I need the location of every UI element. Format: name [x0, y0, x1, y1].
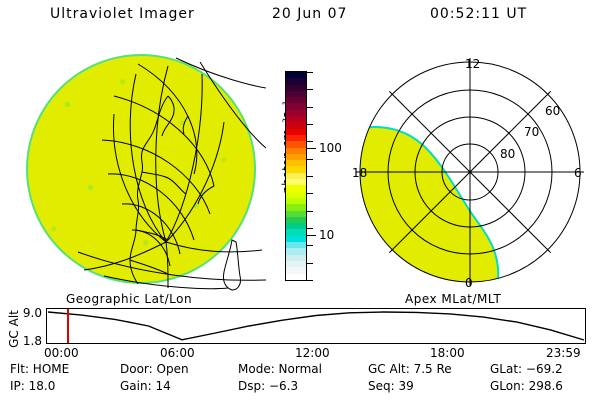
- orbit-x-tick-labels: 00:0006:0012:0018:0023:59: [0, 346, 600, 362]
- colorbar-ticks: 10010: [307, 71, 352, 281]
- colorbar-minor-tick: [307, 193, 313, 194]
- status-field: GC Alt: 7.5 Re: [368, 362, 452, 376]
- status-field: IP: 18.0: [10, 379, 55, 393]
- colorbar-band: [286, 274, 306, 280]
- apex-polar-panel[interactable]: 12 18 6 0 60 70 80: [348, 44, 592, 296]
- globe-overlay-graticule: [18, 44, 266, 296]
- colorbar-tick-label: 10: [319, 228, 334, 242]
- instrument-status-block: Flt: HOMEDoor: OpenMode: NormalGC Alt: 7…: [0, 362, 600, 398]
- geographic-globe-panel[interactable]: [18, 44, 266, 296]
- colorbar-minor-tick: [307, 211, 313, 212]
- orbit-y-tick-labels: 9.01.8: [0, 308, 42, 344]
- orbit-x-tick: 12:00: [295, 346, 330, 360]
- polar-subtitle: Apex MLat/MLT: [405, 292, 501, 306]
- colorbar-major-tick: [307, 148, 316, 149]
- polar-mlat-label-80: 80: [500, 147, 515, 161]
- status-field: Mode: Normal: [238, 362, 322, 376]
- orbit-y-tick: 9.0: [23, 306, 42, 320]
- status-row: IP: 18.0Gain: 14Dsp: −6.3Seq: 39GLon: 29…: [0, 379, 600, 396]
- polar-mlat-label-60: 60: [545, 104, 560, 118]
- colorbar-minor-tick: [307, 107, 313, 108]
- colorbar-minor-tick: [307, 228, 313, 229]
- header-bar: Ultraviolet Imager 20 Jun 07 00:52:11 UT: [0, 6, 600, 28]
- globe-subtitle: Geographic Lat/Lon: [66, 292, 192, 306]
- colorbar-tick-label: 100: [319, 141, 342, 155]
- orbit-x-tick: 00:00: [44, 346, 79, 360]
- polar-mlt-label-0: 0: [465, 276, 473, 290]
- orbit-altitude-trace: [47, 309, 585, 343]
- status-field: Gain: 14: [120, 379, 171, 393]
- observation-time: 00:52:11 UT: [430, 6, 527, 22]
- page-title: Ultraviolet Imager: [50, 6, 195, 22]
- colorbar-minor-tick: [307, 141, 313, 142]
- status-field: Flt: HOME: [10, 362, 69, 376]
- colorbar-minor-tick: [307, 124, 313, 125]
- status-field: Seq: 39: [368, 379, 414, 393]
- status-field: GLon: 298.6: [490, 379, 563, 393]
- status-field: GLat: −69.2: [490, 362, 563, 376]
- colorbar-panel: photon cm⁻²s⁻¹ 10010: [266, 44, 352, 296]
- observation-date: 20 Jun 07: [272, 6, 347, 22]
- polar-mlat-label-70: 70: [524, 125, 539, 139]
- orbit-altitude-plot[interactable]: GC Alt 9.01.8 00:0006:0012:0018:0023:59: [0, 306, 600, 358]
- polar-mlt-label-12: 12: [465, 57, 480, 71]
- colorbar-minor-tick: [307, 72, 313, 73]
- orbit-x-tick: 06:00: [160, 346, 195, 360]
- status-field: Door: Open: [120, 362, 189, 376]
- polar-auroral-oval: [359, 127, 498, 284]
- colorbar-minor-tick: [307, 245, 313, 246]
- orbit-plot-area: [46, 308, 586, 344]
- colorbar-minor-tick: [307, 280, 313, 281]
- orbit-x-tick: 23:59: [546, 346, 581, 360]
- polar-mlt-label-6: 6: [574, 166, 582, 180]
- orbit-x-tick: 18:00: [430, 346, 465, 360]
- status-field: Dsp: −6.3: [238, 379, 298, 393]
- colorbar-gradient: [285, 71, 307, 281]
- polar-dial-graphic: 12 18 6 0 60 70 80: [348, 44, 592, 296]
- status-row: Flt: HOMEDoor: OpenMode: NormalGC Alt: 7…: [0, 362, 600, 379]
- colorbar-minor-tick: [307, 89, 313, 90]
- colorbar-major-tick: [307, 235, 316, 236]
- colorbar-minor-tick: [307, 176, 313, 177]
- colorbar-minor-tick: [307, 263, 313, 264]
- current-time-marker: [67, 309, 69, 343]
- polar-mlt-label-18: 18: [352, 166, 367, 180]
- colorbar-minor-tick: [307, 159, 313, 160]
